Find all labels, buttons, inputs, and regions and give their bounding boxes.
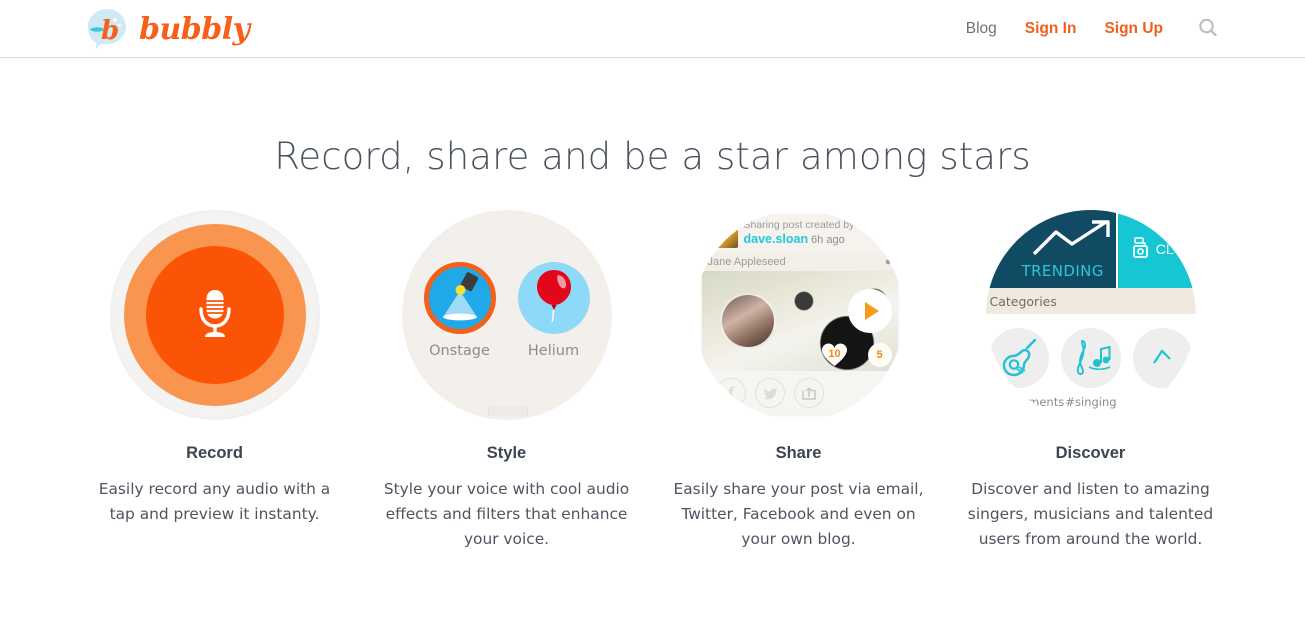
post-author-bar: Jane Appleseed ● <box>702 252 898 271</box>
heart-count-badge: 10 <box>820 341 850 367</box>
style-effect-helium[interactable]: Helium <box>516 262 592 359</box>
share-artwork: Sharing post created by dave.sloan 6h ag… <box>694 210 904 420</box>
category-label: #instruments <box>986 395 1052 409</box>
sharer-username[interactable]: dave.sloan <box>744 232 809 246</box>
style-ledge <box>488 406 528 416</box>
style-effect-row: Onstage Helium <box>402 262 612 359</box>
style-artwork: Onstage Helium <box>402 210 612 420</box>
post-card-actions: f <box>702 371 898 414</box>
search-icon <box>1197 17 1219 42</box>
post-photo: 10 5 <box>702 271 898 371</box>
guitar-icon <box>989 328 1049 388</box>
categories-bar: Categories <box>986 288 1196 314</box>
category-grid: #instruments #singing <box>986 314 1196 409</box>
music-notes-icon <box>1061 328 1121 388</box>
discover-artwork: TRENDING CL <box>986 210 1196 420</box>
trend-arrow-icon <box>1030 218 1122 265</box>
category-instruments[interactable]: #instruments <box>986 328 1052 409</box>
play-button[interactable] <box>848 289 892 333</box>
balloon-icon <box>518 262 590 334</box>
feature-record: Record Easily record any audio with a ta… <box>69 210 361 552</box>
page-title: Record, share and be a star among stars <box>0 135 1305 178</box>
record-artwork <box>110 210 320 420</box>
twitter-share-button[interactable] <box>755 378 785 408</box>
svg-text:f: f <box>728 384 736 402</box>
feature-title: Share <box>776 444 822 463</box>
speech-bubble-logo-icon: b <box>84 6 130 52</box>
listen-count: 5 <box>876 349 882 361</box>
avatar <box>720 293 776 349</box>
post-card-header: Sharing post created by dave.sloan 6h ag… <box>702 214 898 252</box>
post-meta-dot: ● <box>885 256 892 268</box>
categories-label: Categories <box>990 294 1057 309</box>
feature-description: Easily record any audio with a tap and p… <box>86 477 344 527</box>
post-card: Sharing post created by dave.sloan 6h ag… <box>702 214 898 414</box>
celebrity-panel[interactable]: CL <box>1116 210 1196 288</box>
svg-text:b: b <box>101 16 119 46</box>
heart-count: 10 <box>828 348 840 360</box>
feature-discover: TRENDING CL <box>945 210 1237 552</box>
celebrity-label: CL <box>1156 241 1174 257</box>
nav-item-sign-in[interactable]: Sign In <box>1025 20 1077 38</box>
microphone-icon <box>190 284 240 347</box>
nav-item-blog[interactable]: Blog <box>966 20 997 38</box>
nav-item-sign-up[interactable]: Sign Up <box>1104 20 1163 38</box>
partial-icon <box>1133 328 1193 388</box>
brand-logo-link[interactable]: b bubbly <box>84 6 250 52</box>
feature-style: Onstage Helium Style Style <box>361 210 653 552</box>
spotlight-icon <box>424 262 496 334</box>
brand-wordmark: bubbly <box>139 12 250 47</box>
feature-title: Record <box>186 444 243 463</box>
feature-list: Record Easily record any audio with a ta… <box>0 210 1305 552</box>
post-author-name: Jane Appleseed <box>708 256 786 268</box>
share-arrow-button[interactable] <box>794 378 824 408</box>
feature-description: Discover and listen to amazing singers, … <box>962 477 1220 552</box>
shared-timestamp: 6h ago <box>811 234 845 246</box>
style-effect-label: Helium <box>516 343 592 359</box>
feature-description: Style your voice with cool audio effects… <box>378 477 636 552</box>
play-icon <box>865 302 879 320</box>
discover-top-panels: TRENDING CL <box>986 210 1196 288</box>
site-header: b bubbly Blog Sign In Sign Up <box>0 0 1305 58</box>
search-button[interactable] <box>1191 17 1219 42</box>
category-label: #singing <box>1059 395 1124 409</box>
trending-panel[interactable]: TRENDING <box>986 210 1116 288</box>
category-partial[interactable] <box>1131 328 1196 409</box>
feature-title: Style <box>487 444 526 463</box>
camera-icon <box>1132 237 1152 262</box>
style-effect-onstage[interactable]: Onstage <box>422 262 498 359</box>
record-button[interactable] <box>146 246 284 384</box>
listen-count-badge: 5 <box>868 343 892 367</box>
feature-description: Easily share your post via email, Twitte… <box>670 477 928 552</box>
facebook-share-button[interactable]: f <box>716 378 746 408</box>
style-effect-label: Onstage <box>422 343 498 359</box>
feature-share: Sharing post created by dave.sloan 6h ag… <box>653 210 945 552</box>
shared-by-prefix: Sharing post created by <box>744 219 855 232</box>
sharer-thumbnail <box>708 218 738 248</box>
feature-title: Discover <box>1056 444 1126 463</box>
category-singing[interactable]: #singing <box>1059 328 1124 409</box>
primary-nav: Blog Sign In Sign Up <box>966 0 1219 58</box>
